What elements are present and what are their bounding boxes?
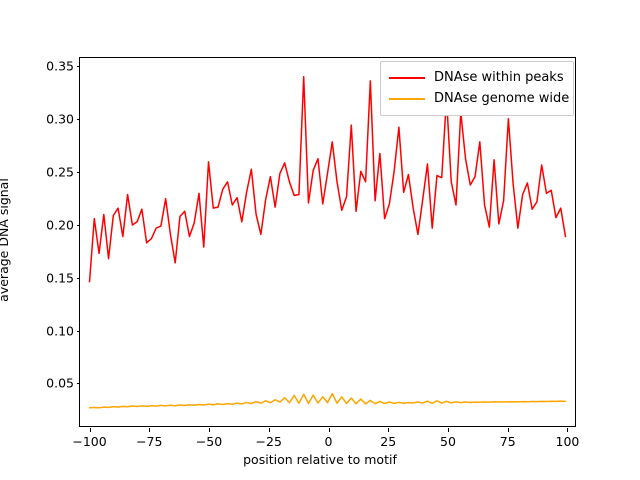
y-tick-mark — [77, 119, 81, 120]
legend-swatch-line-icon — [389, 98, 425, 100]
y-tick-mark — [77, 225, 81, 226]
y-tick-mark — [77, 278, 81, 279]
y-axis-label: average DNA signal — [0, 178, 11, 302]
x-tick-mark — [269, 428, 270, 432]
x-tick-label: −100 — [72, 434, 106, 449]
x-tick-mark — [149, 428, 150, 432]
y-tick-label: 0.20 — [46, 217, 74, 232]
x-axis-label: position relative to motif — [0, 452, 640, 467]
x-tick-label: −50 — [196, 434, 222, 449]
x-tick-mark — [388, 428, 389, 432]
x-tick-label: −25 — [256, 434, 282, 449]
x-tick-label: 100 — [556, 434, 580, 449]
series-line-dnase-genome-wide — [90, 394, 566, 408]
plot-axes: 0.050.100.150.200.250.300.35 −100−75−50−… — [79, 57, 576, 427]
legend-label: DNAse genome wide — [434, 91, 569, 106]
x-tick-label: 0 — [325, 434, 333, 449]
y-tick-label: 0.10 — [46, 323, 74, 338]
y-tick-label: 0.15 — [46, 270, 74, 285]
x-tick-label: 25 — [380, 434, 396, 449]
x-tick-label: 50 — [440, 434, 456, 449]
y-tick-label: 0.25 — [46, 164, 74, 179]
y-tick-label: 0.30 — [46, 112, 74, 127]
figure-canvas: 0.050.100.150.200.250.300.35 −100−75−50−… — [0, 0, 640, 480]
y-tick-mark — [77, 172, 81, 173]
legend-item-1: DNAse genome wide — [389, 88, 565, 109]
y-tick-mark — [77, 66, 81, 67]
y-tick-mark — [77, 331, 81, 332]
x-tick-mark — [90, 428, 91, 432]
y-tick-label: 0.05 — [46, 376, 74, 391]
x-tick-mark — [567, 428, 568, 432]
x-tick-label: 75 — [500, 434, 516, 449]
legend-label: DNAse within peaks — [434, 70, 564, 85]
y-tick-label: 0.35 — [46, 59, 74, 74]
x-tick-mark — [508, 428, 509, 432]
legend-item-0: DNAse within peaks — [389, 67, 565, 88]
x-tick-mark — [329, 428, 330, 432]
legend-box: DNAse within peaks DNAse genome wide — [380, 61, 574, 116]
x-tick-label: −75 — [136, 434, 162, 449]
x-tick-mark — [209, 428, 210, 432]
y-tick-mark — [77, 383, 81, 384]
legend-swatch-line-icon — [389, 77, 425, 79]
x-tick-mark — [448, 428, 449, 432]
